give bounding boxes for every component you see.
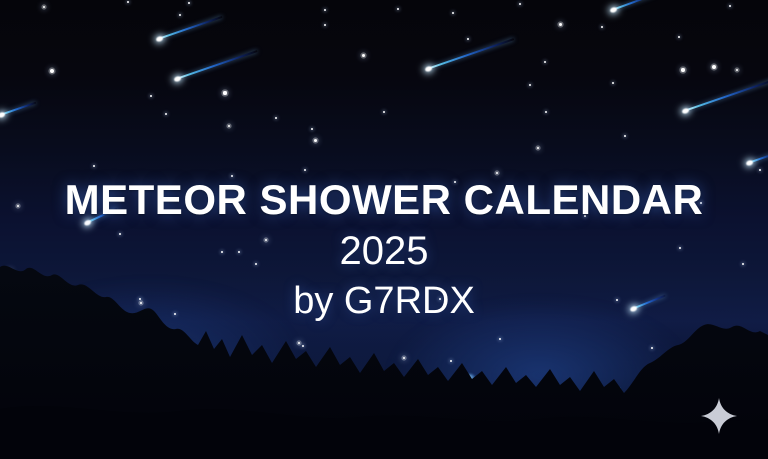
sparkle-icon [699,396,739,436]
star [314,139,317,142]
banner-text-block: METEOR SHOWER CALENDAR 2025 by G7RDX [0,176,768,324]
star [681,68,684,71]
star [559,23,562,26]
meteor-shower-calendar-banner: METEOR SHOWER CALENDAR 2025 by G7RDX [0,0,768,459]
star [324,24,326,26]
star [223,91,226,94]
banner-year: 2025 [0,226,768,276]
page-title: METEOR SHOWER CALENDAR [0,176,768,224]
star [179,14,181,16]
banner-byline: by G7RDX [0,278,768,324]
star [50,69,54,73]
star [362,54,365,57]
